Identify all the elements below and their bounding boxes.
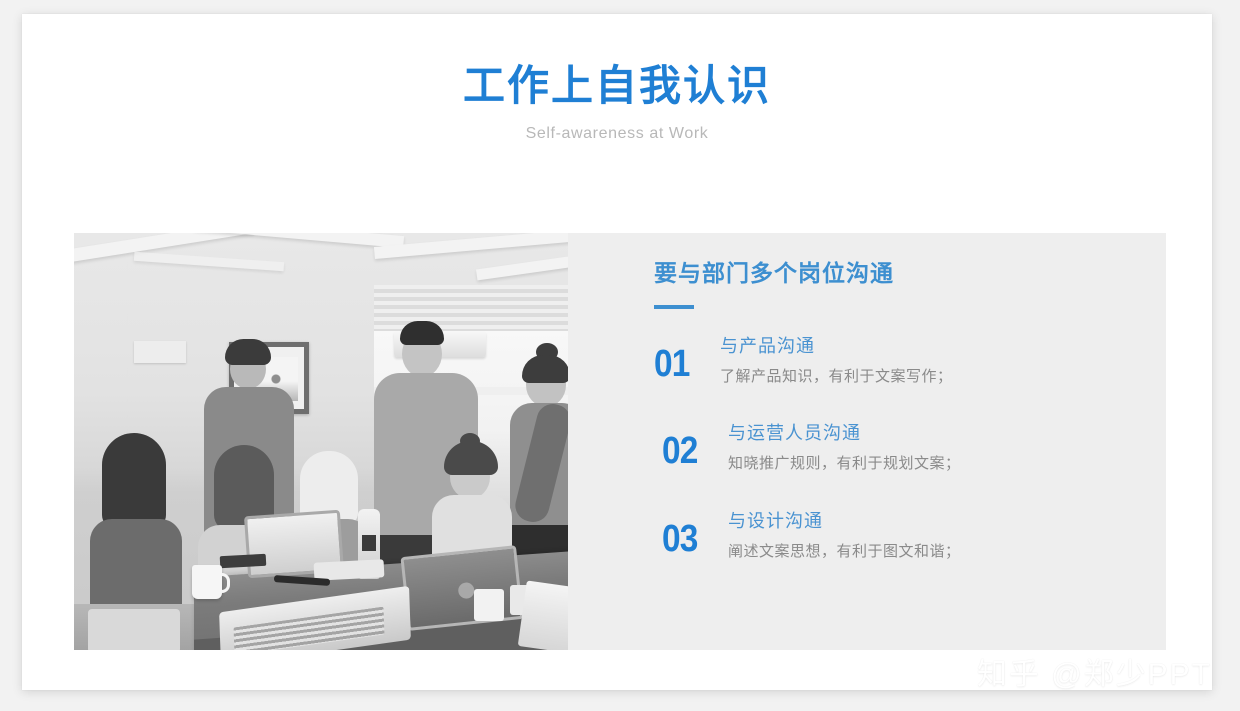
- list-item-description: 了解产品知识，有利于文案写作；: [720, 366, 953, 389]
- info-panel: 要与部门多个岗位沟通 01 与产品沟通 了解产品知识，有利于文案写作； 02 与…: [568, 233, 1166, 650]
- photo-mug: [192, 565, 222, 599]
- photo-person-hair: [225, 339, 271, 365]
- panel-heading: 要与部门多个岗位沟通: [654, 259, 1166, 289]
- list-item-number: 02: [662, 420, 720, 470]
- photo-person-hair: [102, 433, 166, 529]
- photo-wall-plaque: [134, 341, 186, 363]
- list-item[interactable]: 01 与产品沟通 了解产品知识，有利于文案写作；: [654, 333, 1166, 389]
- slide-card: 工作上自我认识 Self-awareness at Work: [22, 14, 1212, 690]
- team-meeting-photo: [74, 233, 568, 650]
- list-item-number: 01: [654, 333, 712, 383]
- photo-chair: [88, 609, 180, 650]
- panel-divider: [654, 305, 694, 309]
- list-item-description: 知晓推广规则，有利于规划文案；: [728, 453, 961, 476]
- photo-person-hair: [444, 441, 498, 475]
- list-item[interactable]: 03 与设计沟通 阐述文案思想，有利于图文和谐；: [654, 508, 1166, 564]
- list-item-text: 与设计沟通 阐述文案思想，有利于图文和谐；: [728, 508, 961, 564]
- photo-laptop: [518, 580, 568, 650]
- list-item-title: 与运营人员沟通: [728, 420, 961, 447]
- item-list: 01 与产品沟通 了解产品知识，有利于文案写作； 02 与运营人员沟通 知晓推广…: [654, 333, 1166, 564]
- photo-person-body: [90, 519, 182, 611]
- content-row: 要与部门多个岗位沟通 01 与产品沟通 了解产品知识，有利于文案写作； 02 与…: [74, 233, 1166, 650]
- photo-phone: [220, 554, 267, 568]
- list-item-text: 与运营人员沟通 知晓推广规则，有利于规划文案；: [728, 420, 961, 476]
- list-item-text: 与产品沟通 了解产品知识，有利于文案写作；: [720, 333, 953, 389]
- photo-person-hair: [522, 355, 568, 383]
- photo-laptop-screen: [400, 545, 523, 631]
- photo-person-hair: [400, 321, 444, 345]
- list-item-number: 03: [662, 508, 720, 558]
- list-item[interactable]: 02 与运营人员沟通 知晓推广规则，有利于规划文案；: [654, 420, 1166, 476]
- list-item-title: 与产品沟通: [720, 333, 953, 360]
- watermark: 知乎 @郑少PPT: [977, 649, 1212, 693]
- list-item-title: 与设计沟通: [728, 508, 961, 535]
- list-item-description: 阐述文案思想，有利于图文和谐；: [728, 541, 961, 564]
- page-subtitle: Self-awareness at Work: [22, 125, 1212, 143]
- title-block: 工作上自我认识 Self-awareness at Work: [22, 60, 1212, 143]
- photo-mug: [474, 589, 504, 621]
- page-title: 工作上自我认识: [22, 60, 1212, 113]
